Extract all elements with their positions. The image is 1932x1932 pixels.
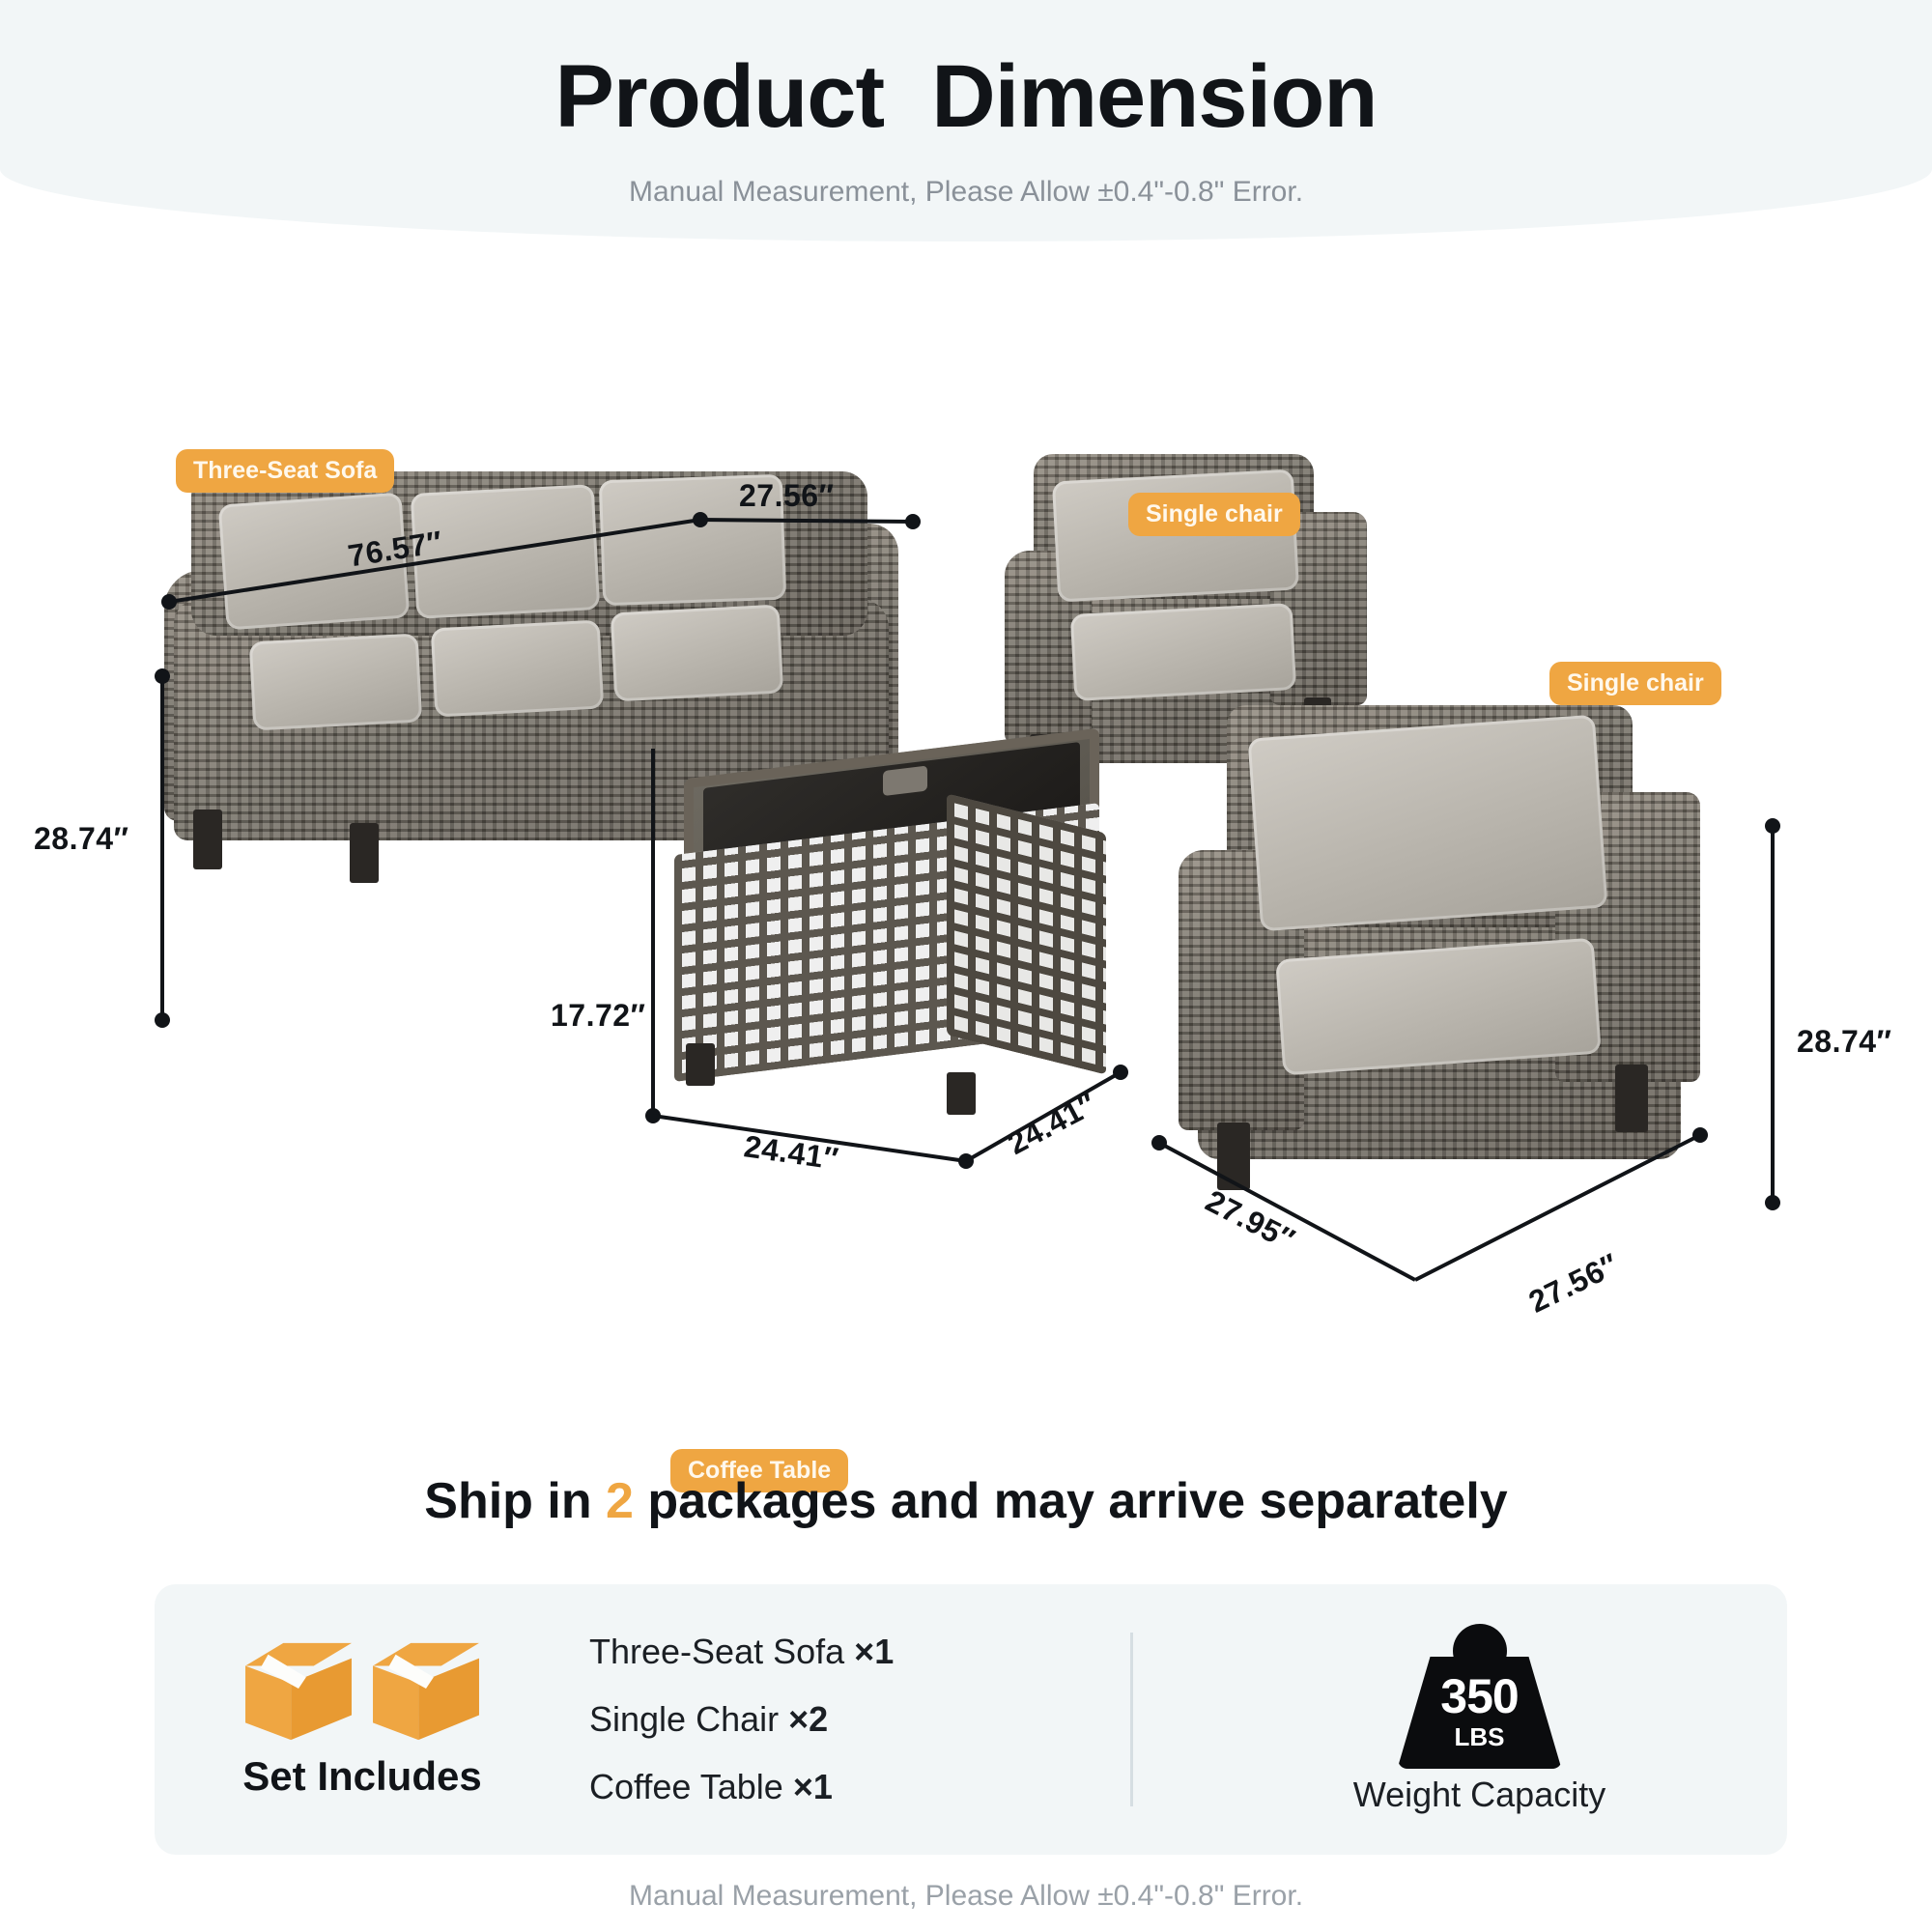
chair2-back-cushion (1247, 715, 1607, 932)
sofa-leg (350, 823, 379, 883)
sofa-leg (193, 810, 222, 869)
table-leg (686, 1043, 715, 1086)
weight-value: 350 (1398, 1672, 1562, 1720)
weight-capacity-block: 350 LBS Weight Capacity (1172, 1624, 1787, 1815)
item-name: Coffee Table (589, 1767, 783, 1806)
dimension-chair-width: 27.56″ (1523, 1246, 1625, 1320)
package-boxes (241, 1639, 483, 1744)
shipping-headline: Ship in 2 packages and may arrive separa… (0, 1472, 1932, 1530)
dimension-table-width: 24.41″ (742, 1128, 841, 1177)
label-three-seat-sofa: Three-Seat Sofa (176, 449, 394, 493)
item-qty: ×1 (854, 1632, 894, 1671)
page-title: Product Dimension (0, 46, 1932, 148)
single-chair-2-illustration (1179, 647, 1777, 1246)
item-name: Three-Seat Sofa (589, 1632, 844, 1671)
item-qty: ×1 (793, 1767, 833, 1806)
item-qty: ×2 (788, 1699, 828, 1739)
sofa-seat-cushion (249, 633, 423, 730)
label-single-chair-1: Single chair (1128, 493, 1300, 536)
set-includes-label: Set Includes (242, 1753, 481, 1800)
page-subtitle: Manual Measurement, Please Allow ±0.4"-0… (0, 176, 1932, 209)
product-diagram: 76.57″ 27.56″ 28.74″ 17.72″ 24.41″ 24.41… (0, 261, 1932, 1420)
item-name: Single Chair (589, 1699, 779, 1739)
list-item: Single Chair ×2 (589, 1699, 1092, 1740)
weight-icon: 350 LBS (1398, 1624, 1562, 1769)
dimension-sofa-depth: 27.56″ (739, 478, 834, 514)
list-item: Three-Seat Sofa ×1 (589, 1632, 1092, 1672)
set-includes-list: Three-Seat Sofa ×1 Single Chair ×2 Coffe… (570, 1632, 1092, 1807)
table-woven-side (947, 793, 1106, 1074)
table-leg (947, 1072, 976, 1115)
dimension-sofa-height: 28.74″ (34, 821, 128, 857)
list-item: Coffee Table ×1 (589, 1767, 1092, 1807)
package-box-icon (241, 1639, 355, 1744)
dimension-chair-height: 28.74″ (1797, 1024, 1891, 1060)
ship-prefix: Ship in (424, 1473, 606, 1529)
card-divider (1130, 1633, 1133, 1806)
package-box-icon (369, 1639, 483, 1744)
chair2-leg (1615, 1065, 1648, 1132)
sofa-seat-cushion (611, 604, 784, 701)
label-single-chair-2: Single chair (1549, 662, 1721, 705)
dimension-table-height: 17.72″ (551, 998, 645, 1034)
summary-card: Set Includes Three-Seat Sofa ×1 Single C… (155, 1584, 1787, 1855)
set-includes-block: Set Includes (155, 1639, 570, 1800)
coffee-table-illustration (657, 753, 1121, 1130)
sofa-seat-cushion (431, 619, 605, 717)
weight-capacity-label: Weight Capacity (1353, 1775, 1605, 1815)
infographic-page: Product Dimension Manual Measurement, Pl… (0, 0, 1932, 1932)
footer-note: Manual Measurement, Please Allow ±0.4"-0… (0, 1880, 1932, 1913)
weight-unit: LBS (1398, 1724, 1562, 1749)
ship-package-count: 2 (606, 1473, 634, 1529)
chair2-leg (1217, 1122, 1250, 1190)
chair2-seat-cushion (1275, 938, 1602, 1076)
ship-suffix: packages and may arrive separately (634, 1473, 1508, 1529)
